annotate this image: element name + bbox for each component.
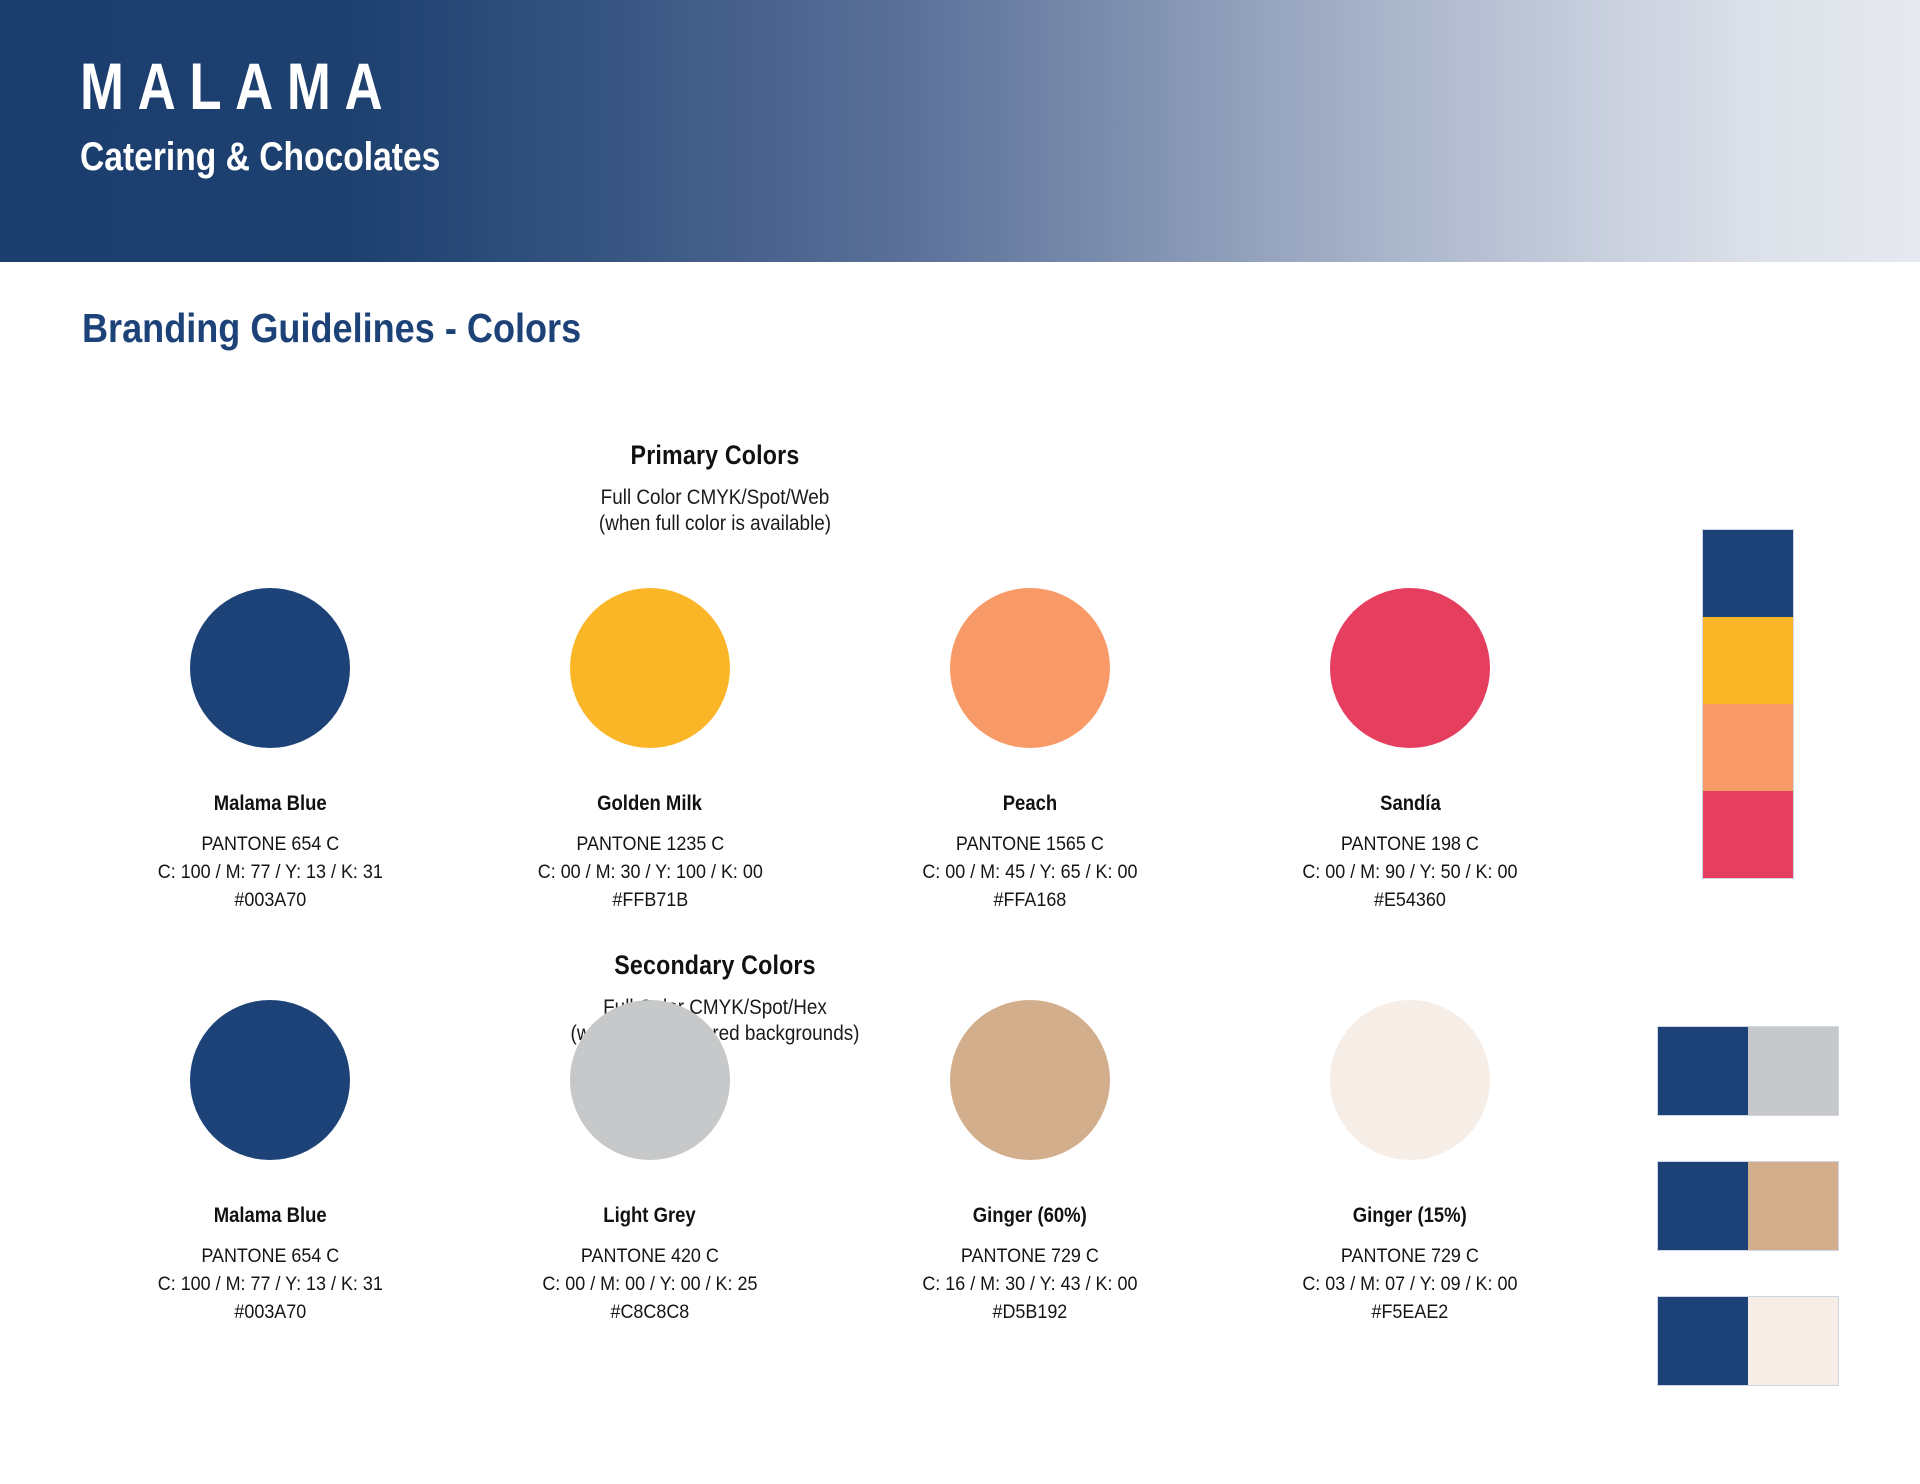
secondary-swatch-row: Malama Blue PANTONE 654 C C: 100 / M: 77…	[80, 1000, 1600, 1326]
logo-tagline: Catering & Chocolates	[80, 134, 440, 180]
color-swatch: Malama Blue PANTONE 654 C C: 100 / M: 77…	[80, 1000, 460, 1326]
color-hex: #D5B192	[922, 1298, 1137, 1326]
color-circle	[950, 1000, 1110, 1160]
primary-colors-heading: Primary Colors Full Color CMYK/Spot/Web …	[365, 440, 1065, 537]
color-hex: #003A70	[157, 1298, 382, 1326]
color-circle	[570, 588, 730, 748]
color-meta: PANTONE 198 C C: 00 / M: 90 / Y: 50 / K:…	[1302, 830, 1517, 914]
color-chip	[1703, 791, 1793, 878]
color-chip-pair	[1658, 1027, 1838, 1115]
color-meta: PANTONE 654 C C: 100 / M: 77 / Y: 13 / K…	[157, 1242, 382, 1326]
brand-guidelines-page: MALAMA Catering & Chocolates Branding Gu…	[0, 0, 1920, 1484]
section-subtitle: Full Color CMYK/Spot/Web (when full colo…	[400, 485, 1030, 537]
page-title: Branding Guidelines - Colors	[82, 305, 581, 351]
logo-wordmark: MALAMA	[80, 52, 423, 120]
brand-logo: MALAMA Catering & Chocolates	[80, 52, 509, 180]
color-name: Malama Blue	[214, 1204, 327, 1228]
section-title: Primary Colors	[414, 440, 1016, 471]
color-meta: PANTONE 420 C C: 00 / M: 00 / Y: 00 / K:…	[542, 1242, 757, 1326]
color-pantone: PANTONE 654 C	[157, 1242, 382, 1270]
color-pantone: PANTONE 729 C	[1302, 1242, 1517, 1270]
color-cmyk: C: 00 / M: 45 / Y: 65 / K: 00	[922, 858, 1137, 886]
color-swatch: Ginger (15%) PANTONE 729 C C: 03 / M: 07…	[1220, 1000, 1600, 1326]
color-pantone: PANTONE 420 C	[542, 1242, 757, 1270]
color-swatch: Ginger (60%) PANTONE 729 C C: 16 / M: 30…	[840, 1000, 1220, 1326]
primary-color-chip-stack	[1703, 530, 1793, 878]
color-circle	[950, 588, 1110, 748]
color-name: Golden Milk	[598, 792, 703, 816]
color-chip	[1658, 1297, 1748, 1385]
color-chip	[1748, 1162, 1838, 1250]
color-circle	[570, 1000, 730, 1160]
color-pantone: PANTONE 1565 C	[922, 830, 1137, 858]
color-swatch: Peach PANTONE 1565 C C: 00 / M: 45 / Y: …	[840, 588, 1220, 914]
color-pantone: PANTONE 729 C	[922, 1242, 1137, 1270]
color-name: Sandía	[1380, 792, 1441, 816]
color-meta: PANTONE 654 C C: 100 / M: 77 / Y: 13 / K…	[157, 830, 382, 914]
color-pantone: PANTONE 1235 C	[537, 830, 762, 858]
color-hex: #E54360	[1302, 886, 1517, 914]
color-pantone: PANTONE 198 C	[1302, 830, 1517, 858]
color-name: Peach	[1003, 792, 1057, 816]
color-swatch: Golden Milk PANTONE 1235 C C: 00 / M: 30…	[460, 588, 840, 914]
color-hex: #C8C8C8	[542, 1298, 757, 1326]
color-meta: PANTONE 729 C C: 16 / M: 30 / Y: 43 / K:…	[922, 1242, 1137, 1326]
color-chip	[1748, 1027, 1838, 1115]
color-meta: PANTONE 1565 C C: 00 / M: 45 / Y: 65 / K…	[922, 830, 1137, 914]
color-hex: #FFA168	[922, 886, 1137, 914]
color-hex: #F5EAE2	[1302, 1298, 1517, 1326]
header-band: MALAMA Catering & Chocolates	[0, 0, 1920, 262]
color-meta: PANTONE 1235 C C: 00 / M: 30 / Y: 100 / …	[537, 830, 762, 914]
color-cmyk: C: 00 / M: 90 / Y: 50 / K: 00	[1302, 858, 1517, 886]
color-circle	[190, 588, 350, 748]
color-cmyk: C: 00 / M: 00 / Y: 00 / K: 25	[542, 1270, 757, 1298]
color-name: Ginger (15%)	[1353, 1204, 1467, 1228]
color-meta: PANTONE 729 C C: 03 / M: 07 / Y: 09 / K:…	[1302, 1242, 1517, 1326]
secondary-color-chip-pairs	[1658, 1027, 1838, 1432]
section-subtitle-line2: (when full color is available)	[400, 511, 1030, 537]
color-swatch: Malama Blue PANTONE 654 C C: 100 / M: 77…	[80, 588, 460, 914]
color-name: Ginger (60%)	[973, 1204, 1087, 1228]
color-pantone: PANTONE 654 C	[157, 830, 382, 858]
color-cmyk: C: 00 / M: 30 / Y: 100 / K: 00	[537, 858, 762, 886]
color-chip	[1748, 1297, 1838, 1385]
color-circle	[190, 1000, 350, 1160]
color-chip	[1703, 617, 1793, 704]
section-title: Secondary Colors	[414, 950, 1016, 981]
color-chip	[1658, 1162, 1748, 1250]
color-chip	[1703, 530, 1793, 617]
color-cmyk: C: 16 / M: 30 / Y: 43 / K: 00	[922, 1270, 1137, 1298]
color-cmyk: C: 03 / M: 07 / Y: 09 / K: 00	[1302, 1270, 1517, 1298]
color-name: Malama Blue	[214, 792, 327, 816]
color-chip-pair	[1658, 1297, 1838, 1385]
color-circle	[1330, 588, 1490, 748]
color-swatch: Sandía PANTONE 198 C C: 00 / M: 90 / Y: …	[1220, 588, 1600, 914]
color-hex: #FFB71B	[537, 886, 762, 914]
color-chip	[1703, 704, 1793, 791]
color-chip-pair	[1658, 1162, 1838, 1250]
color-cmyk: C: 100 / M: 77 / Y: 13 / K: 31	[157, 1270, 382, 1298]
color-swatch: Light Grey PANTONE 420 C C: 00 / M: 00 /…	[460, 1000, 840, 1326]
color-cmyk: C: 100 / M: 77 / Y: 13 / K: 31	[157, 858, 382, 886]
color-hex: #003A70	[157, 886, 382, 914]
primary-swatch-row: Malama Blue PANTONE 654 C C: 100 / M: 77…	[80, 588, 1600, 914]
color-circle	[1330, 1000, 1490, 1160]
section-subtitle-line1: Full Color CMYK/Spot/Web	[400, 485, 1030, 511]
color-chip	[1658, 1027, 1748, 1115]
color-name: Light Grey	[604, 1204, 696, 1228]
